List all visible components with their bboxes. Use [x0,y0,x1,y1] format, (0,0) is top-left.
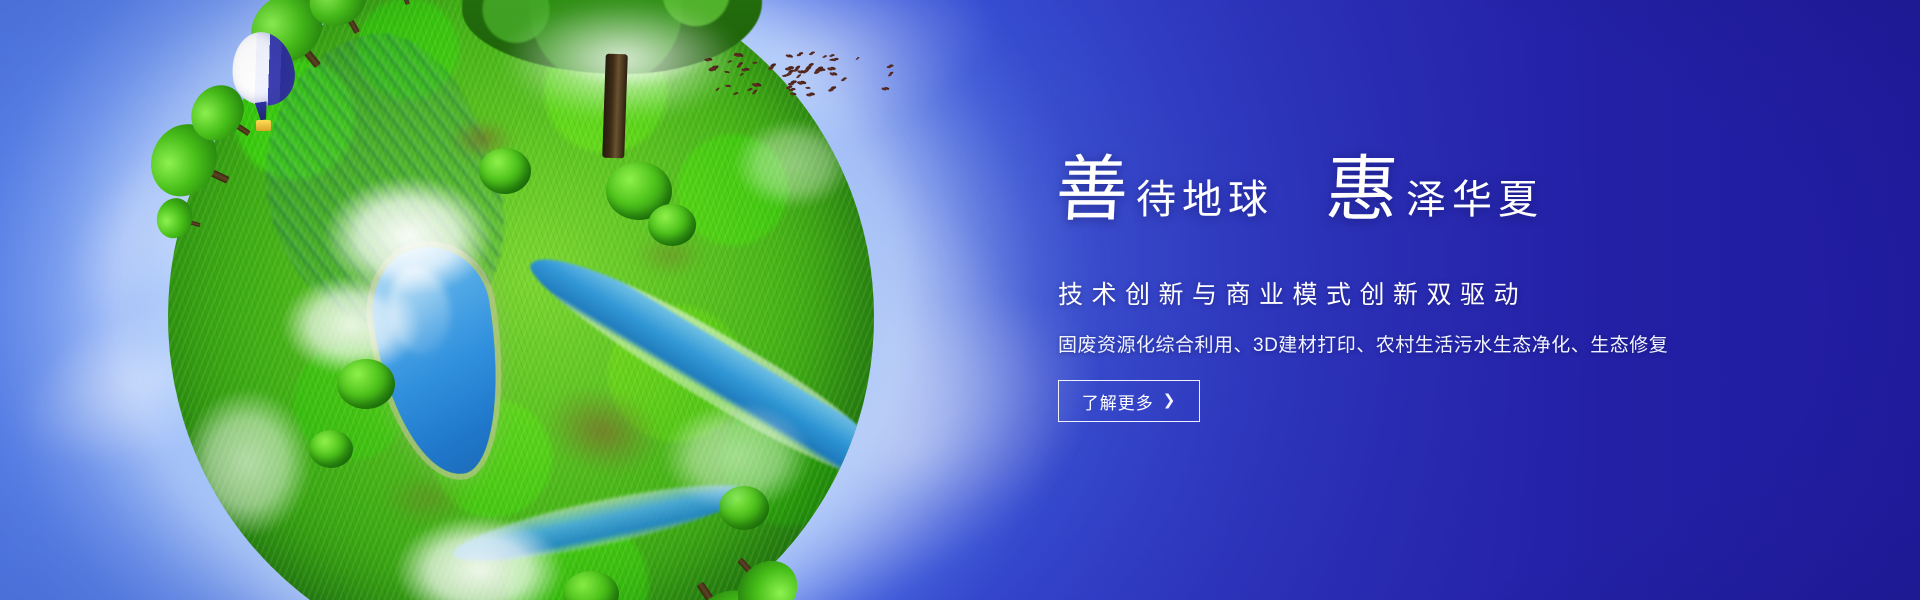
headline-phrase-1-small: 待地球 [1128,180,1274,220]
hero-banner: 善待地球 惠泽华夏 技术创新与商业模式创新双驱动 固废资源化综合利用、3D建材打… [0,0,1920,600]
headline-phrase-1: 善待地球 [1056,150,1274,222]
headline-phrase-1-big: 善 [1054,154,1130,226]
banner-description: 固废资源化综合利用、3D建材打印、农村生活污水生态净化、生态修复 [1058,330,1668,357]
headline-phrase-2-small: 泽华夏 [1398,180,1544,220]
banner-subline: 技术创新与商业模式创新双驱动 [1058,275,1527,311]
headline-phrase-2-big: 惠 [1324,154,1400,226]
learn-more-button[interactable]: 了解更多 ❯ [1058,380,1200,422]
headline-phrase-2: 惠泽华夏 [1326,150,1544,222]
banner-headline: 善待地球 惠泽华夏 [1056,150,1544,222]
banner-content: 善待地球 惠泽华夏 技术创新与商业模式创新双驱动 固废资源化综合利用、3D建材打… [1056,0,1796,600]
learn-more-label: 了解更多 [1082,389,1154,414]
chevron-right-icon: ❯ [1163,393,1177,408]
